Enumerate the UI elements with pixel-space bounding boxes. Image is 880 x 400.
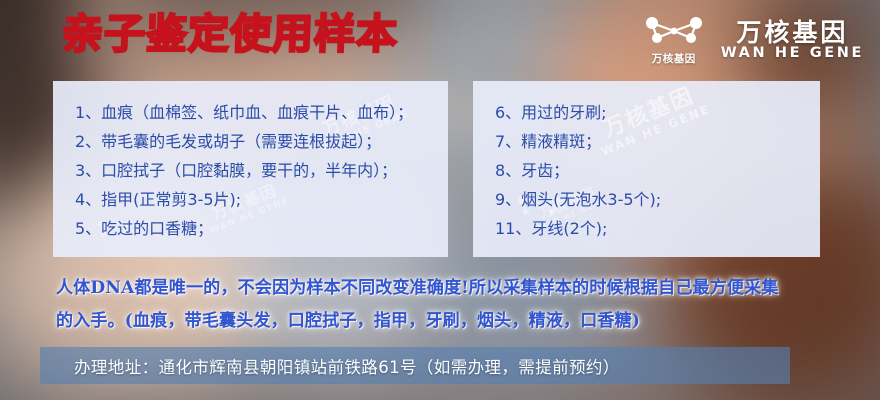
page-title: 亲子鉴定使用样本 — [61, 14, 398, 55]
sample-panel-right: 万核基因 WAN HE GENE 万核基因 WAN HE GENE 6、用过的牙… — [473, 81, 820, 257]
molecule-nodes-icon — [643, 14, 705, 48]
brand-name-en: WAN HE GENE — [721, 46, 864, 62]
list-item: 3、口腔拭子（口腔黏膜，要干的，半年内）； — [75, 156, 448, 185]
brand-wordmark: 万核基因 WAN HE GENE — [721, 19, 864, 62]
brand-mark: 万核基因 — [643, 14, 705, 66]
sample-list-left: 1、血痕（血棉签、纸巾血、血痕干片、血布）； 2、带毛囊的毛发或胡子（需要连根拔… — [53, 81, 448, 243]
list-item: 6、用过的牙刷; — [495, 98, 820, 127]
sample-list-right: 6、用过的牙刷; 7、精液精斑； 8、牙齿； 9、烟头(无泡水3-5个); 11… — [473, 81, 820, 243]
poster-root: 亲子鉴定使用样本 — [0, 0, 880, 400]
note-line-1: 人体DNA都是唯一的，不会因为样本不同改变准确度!所以采集样本的时候根据自己最方… — [56, 272, 846, 305]
sample-panel-left: 万核基因 WAN HE GENE 万核基因 WAN HE GENE 1、血痕（血… — [53, 81, 448, 257]
list-item: 7、精液精斑； — [495, 127, 820, 156]
list-item: 2、带毛囊的毛发或胡子（需要连根拔起）； — [75, 127, 448, 156]
brand-name-cn: 万核基因 — [736, 19, 848, 46]
list-item: 9、烟头(无泡水3-5个); — [495, 185, 820, 214]
list-item: 5、吃过的口香糖； — [75, 214, 448, 243]
brand-mark-label: 万核基因 — [652, 51, 696, 66]
note-line-2: 的入手。(血痕，带毛囊头发，口腔拭子，指甲，牙刷，烟头，精液，口香糖) — [56, 305, 846, 338]
address-bar: 办理地址：通化市辉南县朝阳镇站前铁路61号（如需办理，需提前预约） — [40, 347, 790, 384]
list-item: 11、牙线(2个); — [495, 214, 820, 243]
list-item: 8、牙齿； — [495, 156, 820, 185]
list-item: 4、指甲(正常剪3-5片); — [75, 185, 448, 214]
address-text: 办理地址：通化市辉南县朝阳镇站前铁路61号（如需办理，需提前预约） — [74, 354, 620, 378]
note-paragraph: 人体DNA都是唯一的，不会因为样本不同改变准确度!所以采集样本的时候根据自己最方… — [56, 272, 846, 338]
list-item: 1、血痕（血棉签、纸巾血、血痕干片、血布）； — [75, 98, 448, 127]
brand-logo: 万核基因 万核基因 WAN HE GENE — [643, 14, 864, 66]
